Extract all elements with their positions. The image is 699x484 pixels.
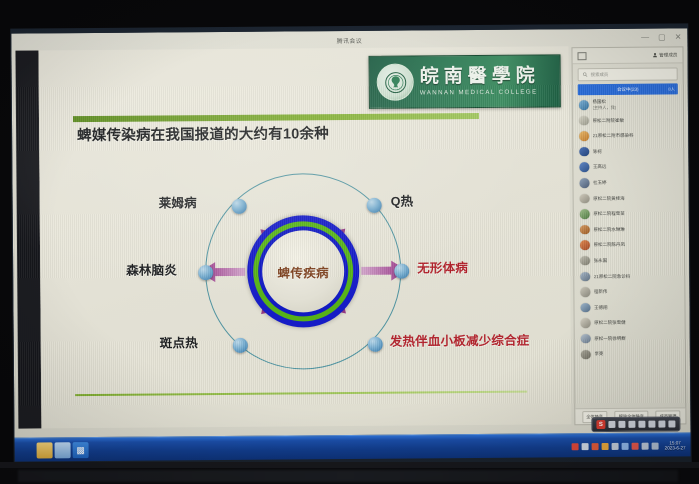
ime-keyboard-icon[interactable] [638, 421, 645, 428]
university-name-en: WANNAN MEDICAL COLLEGE [420, 89, 540, 96]
participant-name: 王德翔 [594, 305, 608, 311]
panel-title-group: 管理成员 [652, 52, 677, 58]
list-item[interactable]: 原松二院陈丹凤 [574, 237, 684, 253]
avatar [580, 256, 590, 266]
university-logo-text: 皖南醫學院 WANNAN MEDICAL COLLEGE [420, 66, 540, 96]
avatar [580, 209, 590, 219]
screen-photograph: 腾讯会议 — ▢ ✕ [0, 0, 699, 484]
ime-chat-icon[interactable] [608, 421, 615, 428]
avatar [579, 163, 589, 173]
participant-role: (主持人，我) [592, 105, 616, 110]
participant-name: 原松二附院崔敏 [593, 117, 625, 123]
list-item[interactable]: 程新伟 [574, 284, 684, 300]
search-input[interactable]: 搜索成员 [578, 67, 678, 81]
radial-diagram: 蜱传疾病 莱姆病 Q热 森林脑炎 无形体病 斑点热 发热伴血小板减少综合症 [139, 150, 471, 393]
avatar [581, 350, 591, 360]
list-item[interactable]: 杜玉婷 [573, 174, 683, 190]
list-item[interactable]: 王德翔 [574, 299, 684, 315]
participant-name: 原松二院水琳琳 [593, 227, 625, 233]
tab-in-meeting[interactable]: 会议中(23) 8人 [578, 83, 678, 95]
core-label: 蜱传疾病 [277, 262, 329, 281]
node-label-spotfever: 斑点热 [160, 332, 198, 351]
node-label-tbe: 森林脑炎 [126, 259, 177, 278]
core-ring-green: 蜱传疾病 [253, 221, 354, 322]
sogou-icon[interactable] [572, 443, 579, 450]
mic-icon[interactable] [612, 442, 619, 449]
ime-wrench-icon[interactable] [668, 420, 675, 427]
participant-name: 原松二院张雪健 [594, 320, 626, 326]
minimize-icon[interactable]: — [641, 34, 649, 42]
avatar [580, 303, 590, 313]
participant-name: 李亮 [594, 352, 603, 358]
list-item[interactable]: 21原松二附市感染科 [573, 128, 683, 144]
avatar [580, 241, 590, 251]
meeting-icon[interactable]: ▩ [73, 442, 89, 458]
ime-pen-icon[interactable] [628, 421, 635, 428]
node-label-anaplasma: 无形体病 [417, 257, 468, 276]
participant-name: 21原松二院急诊科 [594, 273, 631, 279]
avatar [579, 116, 589, 126]
person-icon [652, 53, 657, 58]
core-ring-outer: 蜱传疾病 [247, 215, 360, 328]
battery-icon[interactable] [652, 442, 659, 449]
university-name-cn: 皖南醫學院 [420, 66, 540, 86]
list-item[interactable]: 王高远 [573, 159, 683, 175]
participant-name: 杜玉婷 [593, 180, 607, 186]
panel-title: 管理成员 [659, 52, 677, 58]
node-label-lyme: 莱姆病 [159, 192, 197, 211]
participant-name: 21原松二附市感染科 [593, 133, 634, 139]
participant-name: 原松二院黄桂海 [593, 195, 625, 201]
window-controls[interactable]: — ▢ ✕ [641, 33, 681, 41]
folder-icon[interactable] [37, 442, 53, 458]
tab-in-meeting-label: 会议中(23) [617, 86, 639, 92]
wifi-icon[interactable] [642, 442, 649, 449]
avatar [579, 178, 589, 188]
taskbar-pinned-icons[interactable]: ▩ [15, 438, 89, 462]
chat-icon[interactable] [582, 443, 589, 450]
participant-name: 原松二院陈丹凤 [593, 242, 625, 248]
node-dot-right [394, 264, 409, 279]
node-dot-bottom-left [233, 338, 248, 353]
app-title: 腾讯会议 [337, 36, 363, 45]
university-emblem-icon [377, 64, 414, 101]
list-item[interactable]: 陈柯 [573, 143, 683, 159]
list-item[interactable]: 原松二院水琳琳 [574, 221, 684, 237]
panel-collapse-icon[interactable] [577, 52, 586, 60]
clock-date: 2023-6-27 [665, 445, 686, 450]
avatar [579, 147, 589, 157]
system-tray[interactable]: 15:07 2023-6-27 [572, 433, 691, 458]
ime-moon-icon[interactable] [618, 421, 625, 428]
slide-title: 蜱媒传染病在我国报道的大约有10余种 [77, 122, 329, 145]
node-label-sfts: 发热伴血小板减少综合症 [390, 330, 530, 350]
participants-panel[interactable]: 管理成员 搜索成员 会议中(23) 8人 杨国松 ( [571, 46, 686, 425]
core-disc: 蜱传疾病 [262, 230, 345, 313]
avatar [581, 334, 591, 344]
sogou-ime-icon[interactable]: S [596, 420, 605, 429]
node-dot-bottom-right [368, 337, 383, 352]
monitor-screen: 腾讯会议 — ▢ ✕ [11, 28, 690, 461]
participant-name: 张永国 [594, 258, 608, 264]
taskbar-clock[interactable]: 15:07 2023-6-27 [662, 440, 686, 451]
app-icon[interactable] [602, 442, 609, 449]
participant-name: 程新伟 [594, 289, 608, 295]
ime-umbrella-icon[interactable] [658, 421, 665, 428]
node-label-qfever: Q热 [391, 191, 414, 210]
participant-name: 原松一院徐明群 [594, 336, 626, 342]
close-icon[interactable]: ✕ [675, 33, 682, 41]
letterbox-pillar [15, 50, 41, 428]
avatar [581, 318, 591, 328]
pdf-icon[interactable] [592, 443, 599, 450]
desk-reflection [18, 470, 678, 482]
volume-icon[interactable] [622, 442, 629, 449]
network-icon[interactable] [55, 442, 71, 458]
university-logo: 皖南醫學院 WANNAN MEDICAL COLLEGE [369, 54, 561, 109]
search-icon [583, 72, 588, 77]
list-item[interactable]: 原松一院徐明群 [575, 330, 685, 346]
ime-toolbar[interactable]: S [591, 416, 680, 432]
shared-screen-area: 皖南醫學院 WANNAN MEDICAL COLLEGE 蜱媒传染病在我国报道的… [15, 46, 571, 428]
list-item[interactable]: 原松二院黄桂海 [574, 190, 684, 206]
participant-name: 杨国松 [592, 99, 606, 104]
avatar [579, 131, 589, 141]
search-placeholder: 搜索成员 [591, 71, 609, 77]
security-icon[interactable] [632, 442, 639, 449]
list-item[interactable]: 杨国松 (主持人，我) [573, 96, 683, 112]
participant-name: 陈柯 [593, 149, 602, 155]
avatar [580, 287, 590, 297]
avatar [580, 272, 590, 282]
core-ring-blue-inner: 蜱传疾病 [258, 226, 349, 317]
title-rule [73, 113, 479, 122]
node-dot-top-left [232, 199, 247, 214]
participants-panel-header: 管理成员 [572, 47, 682, 64]
list-item[interactable]: 原松二院张雪健 [575, 315, 685, 331]
participant-name: 原松二院程雪苗 [593, 211, 625, 217]
avatar [580, 225, 590, 235]
list-item[interactable]: 原松二院程雪苗 [574, 206, 684, 222]
participant-name: 王高远 [593, 164, 607, 170]
avatar [579, 100, 589, 110]
node-dot-left [198, 265, 213, 280]
tab-in-meeting-count: 8人 [668, 86, 674, 92]
presentation-slide: 皖南醫學院 WANNAN MEDICAL COLLEGE 蜱媒传染病在我国报道的… [38, 46, 571, 428]
avatar [580, 194, 590, 204]
list-item[interactable]: 李亮 [575, 346, 685, 362]
list-item[interactable]: 原松二附院崔敏 [573, 112, 683, 128]
maximize-icon[interactable]: ▢ [658, 34, 666, 42]
node-dot-top-right [367, 198, 382, 213]
participant-list[interactable]: 杨国松 (主持人，我) 原松二附院崔敏 21原松二附市感染科 陈柯 [573, 96, 685, 389]
list-item[interactable]: 21原松二院急诊科 [574, 268, 684, 284]
ime-mic-icon[interactable] [648, 421, 655, 428]
list-item[interactable]: 张永国 [574, 252, 684, 268]
